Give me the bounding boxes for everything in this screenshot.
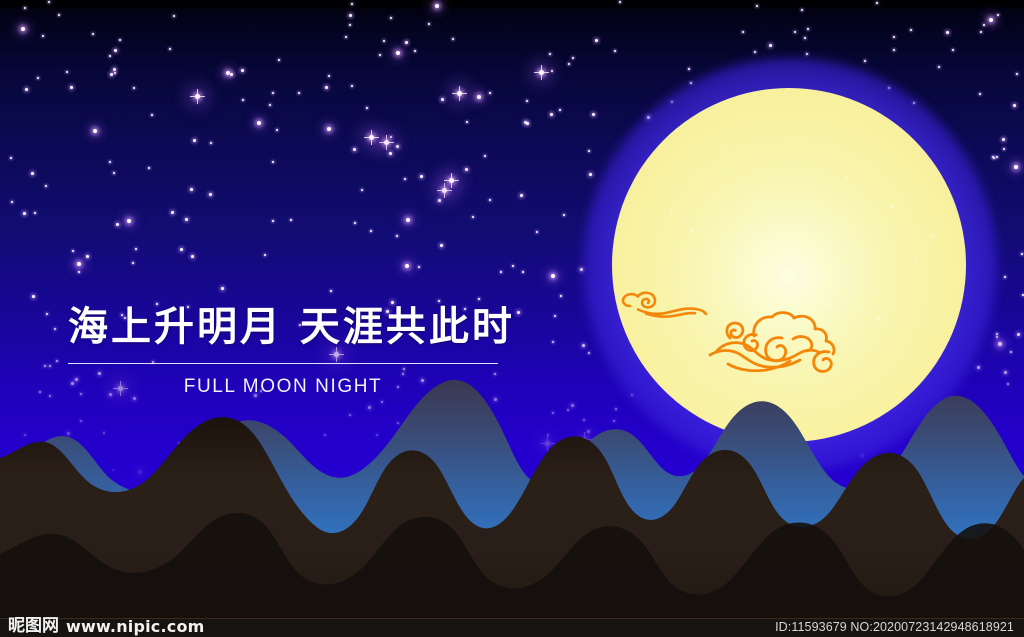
star bbox=[440, 244, 443, 247]
star bbox=[595, 39, 598, 42]
star bbox=[1004, 276, 1006, 278]
star bbox=[298, 92, 300, 94]
star bbox=[478, 298, 480, 300]
star bbox=[264, 254, 266, 256]
star bbox=[325, 86, 328, 89]
star bbox=[406, 218, 410, 222]
star bbox=[193, 139, 196, 142]
star bbox=[1013, 104, 1016, 107]
star bbox=[330, 290, 332, 292]
star bbox=[110, 73, 113, 76]
star bbox=[23, 212, 26, 215]
mountain-silhouettes bbox=[0, 318, 1024, 618]
star bbox=[389, 152, 392, 155]
star bbox=[1002, 138, 1005, 141]
star bbox=[290, 219, 292, 221]
star bbox=[997, 14, 999, 16]
star bbox=[549, 53, 551, 55]
star bbox=[327, 127, 331, 131]
star bbox=[390, 136, 392, 138]
star bbox=[351, 85, 353, 87]
star bbox=[414, 50, 416, 52]
star bbox=[1003, 148, 1005, 150]
star bbox=[442, 188, 447, 193]
star bbox=[465, 168, 468, 171]
star bbox=[86, 255, 89, 258]
star bbox=[452, 38, 454, 40]
image-id-text: ID:11593679 NO:20200723142948618921 bbox=[775, 620, 1014, 634]
star bbox=[979, 93, 981, 95]
star bbox=[804, 37, 806, 39]
star bbox=[379, 54, 381, 56]
moon-sparkle bbox=[691, 230, 693, 232]
star bbox=[910, 29, 912, 31]
star bbox=[384, 140, 389, 145]
star bbox=[328, 75, 330, 77]
star bbox=[396, 235, 398, 237]
moon-sparkle bbox=[846, 176, 848, 178]
star bbox=[619, 1, 621, 3]
star bbox=[349, 24, 351, 26]
star bbox=[209, 193, 212, 196]
star bbox=[754, 51, 756, 53]
star bbox=[876, 2, 878, 4]
star bbox=[404, 178, 406, 180]
star bbox=[180, 248, 183, 251]
star bbox=[361, 189, 363, 191]
star bbox=[405, 264, 409, 268]
star bbox=[173, 15, 175, 17]
moon-sparkle bbox=[748, 227, 750, 229]
star bbox=[151, 114, 153, 116]
star bbox=[993, 157, 995, 159]
star bbox=[500, 271, 502, 273]
star bbox=[946, 31, 949, 34]
moon-sparkle bbox=[727, 169, 729, 171]
star bbox=[489, 199, 491, 201]
star bbox=[10, 157, 12, 159]
star bbox=[133, 87, 135, 89]
star bbox=[272, 161, 274, 163]
star bbox=[472, 216, 474, 218]
star bbox=[77, 262, 81, 266]
star bbox=[354, 222, 356, 224]
moon-sparkle bbox=[914, 258, 916, 260]
poster-canvas: 海上升明月 天涯共此时 FULL MOON NIGHT bbox=[0, 0, 1024, 637]
star bbox=[952, 49, 954, 51]
star bbox=[572, 57, 574, 59]
star bbox=[11, 201, 13, 203]
star bbox=[554, 315, 556, 317]
star bbox=[241, 69, 244, 72]
star bbox=[420, 175, 423, 178]
star bbox=[512, 265, 514, 267]
star bbox=[520, 194, 523, 197]
star bbox=[276, 129, 278, 131]
moon-sparkle bbox=[861, 253, 863, 255]
star bbox=[116, 223, 119, 226]
star bbox=[190, 188, 193, 191]
star bbox=[272, 220, 274, 222]
star bbox=[457, 91, 462, 96]
star bbox=[536, 231, 538, 233]
star bbox=[37, 77, 39, 79]
star bbox=[114, 49, 117, 52]
star bbox=[242, 99, 244, 101]
star bbox=[438, 300, 440, 302]
star bbox=[42, 35, 44, 37]
site-watermark: 昵图网 www.nipic.com bbox=[8, 618, 205, 635]
star bbox=[21, 27, 25, 31]
star bbox=[269, 104, 271, 106]
star bbox=[526, 122, 529, 125]
star bbox=[435, 4, 439, 8]
star bbox=[396, 51, 400, 55]
star bbox=[980, 31, 982, 33]
star bbox=[489, 92, 491, 94]
star bbox=[230, 73, 233, 76]
star bbox=[195, 94, 200, 99]
star bbox=[522, 271, 524, 273]
star bbox=[114, 72, 116, 74]
moon-sparkle bbox=[926, 242, 928, 244]
watermark-url: www.nipic.com bbox=[66, 619, 205, 635]
star bbox=[345, 36, 347, 38]
star bbox=[78, 271, 80, 273]
star bbox=[526, 100, 528, 102]
star bbox=[278, 59, 280, 61]
star bbox=[45, 185, 47, 187]
star bbox=[191, 255, 194, 258]
star bbox=[185, 218, 188, 221]
moon-sparkle bbox=[793, 220, 795, 222]
star bbox=[742, 31, 744, 33]
star bbox=[34, 212, 36, 214]
star bbox=[428, 23, 430, 25]
star bbox=[1016, 73, 1018, 75]
star bbox=[366, 107, 368, 109]
star bbox=[806, 53, 808, 55]
star bbox=[353, 148, 356, 151]
star bbox=[257, 121, 261, 125]
star bbox=[484, 155, 486, 157]
star bbox=[688, 68, 690, 70]
star bbox=[588, 150, 590, 152]
star bbox=[996, 156, 998, 158]
star bbox=[72, 250, 74, 252]
star bbox=[221, 287, 224, 290]
star bbox=[801, 9, 803, 11]
star bbox=[989, 18, 993, 22]
star bbox=[551, 70, 553, 72]
star bbox=[568, 63, 570, 65]
star bbox=[589, 173, 592, 176]
star bbox=[614, 50, 616, 52]
star bbox=[32, 295, 35, 298]
star bbox=[48, 1, 50, 3]
moon-sparkle bbox=[932, 234, 934, 236]
star bbox=[109, 55, 111, 57]
star bbox=[113, 68, 116, 71]
star bbox=[58, 14, 60, 16]
star bbox=[109, 161, 111, 163]
star bbox=[369, 135, 374, 140]
star bbox=[135, 248, 137, 250]
star bbox=[438, 199, 441, 202]
moon-sparkle bbox=[682, 220, 684, 222]
star bbox=[31, 172, 34, 175]
star bbox=[405, 41, 408, 44]
star bbox=[756, 5, 758, 7]
star bbox=[171, 211, 174, 214]
star bbox=[517, 311, 520, 314]
star bbox=[66, 71, 68, 73]
star bbox=[550, 113, 553, 116]
star bbox=[119, 39, 121, 41]
star bbox=[349, 14, 352, 17]
star bbox=[477, 95, 481, 99]
star bbox=[396, 145, 399, 148]
star bbox=[210, 142, 212, 144]
star bbox=[466, 121, 468, 123]
star bbox=[272, 92, 274, 94]
star bbox=[1014, 165, 1018, 169]
moon-sparkle bbox=[671, 211, 673, 213]
star bbox=[132, 262, 134, 264]
star bbox=[390, 17, 392, 19]
star bbox=[113, 172, 115, 174]
star bbox=[25, 88, 28, 91]
star bbox=[24, 7, 26, 9]
star bbox=[127, 219, 131, 223]
star bbox=[449, 178, 454, 183]
star bbox=[539, 70, 544, 75]
star bbox=[351, 3, 353, 5]
watermark-chinese-logo: 昵图网 bbox=[8, 618, 59, 635]
footer-watermark-bar: 昵图网 www.nipic.com ID:11593679 NO:2020072… bbox=[0, 618, 1024, 637]
star bbox=[769, 44, 772, 47]
star bbox=[551, 274, 555, 278]
star bbox=[893, 49, 895, 51]
star bbox=[592, 113, 595, 116]
moon-sparkle bbox=[724, 144, 726, 146]
star bbox=[93, 129, 97, 133]
star bbox=[563, 214, 565, 216]
star bbox=[148, 167, 150, 169]
star bbox=[938, 66, 940, 68]
moon-sparkle bbox=[892, 206, 894, 208]
star bbox=[794, 31, 796, 33]
star bbox=[383, 40, 385, 42]
star bbox=[559, 109, 561, 111]
star bbox=[441, 98, 444, 101]
star bbox=[983, 24, 985, 26]
star bbox=[1021, 253, 1023, 255]
star bbox=[46, 313, 48, 315]
star bbox=[893, 36, 895, 38]
star bbox=[807, 28, 809, 30]
star bbox=[92, 33, 94, 35]
star bbox=[418, 266, 420, 268]
star bbox=[370, 230, 372, 232]
star bbox=[864, 60, 866, 62]
star bbox=[169, 48, 171, 50]
star bbox=[70, 86, 73, 89]
star bbox=[560, 295, 562, 297]
